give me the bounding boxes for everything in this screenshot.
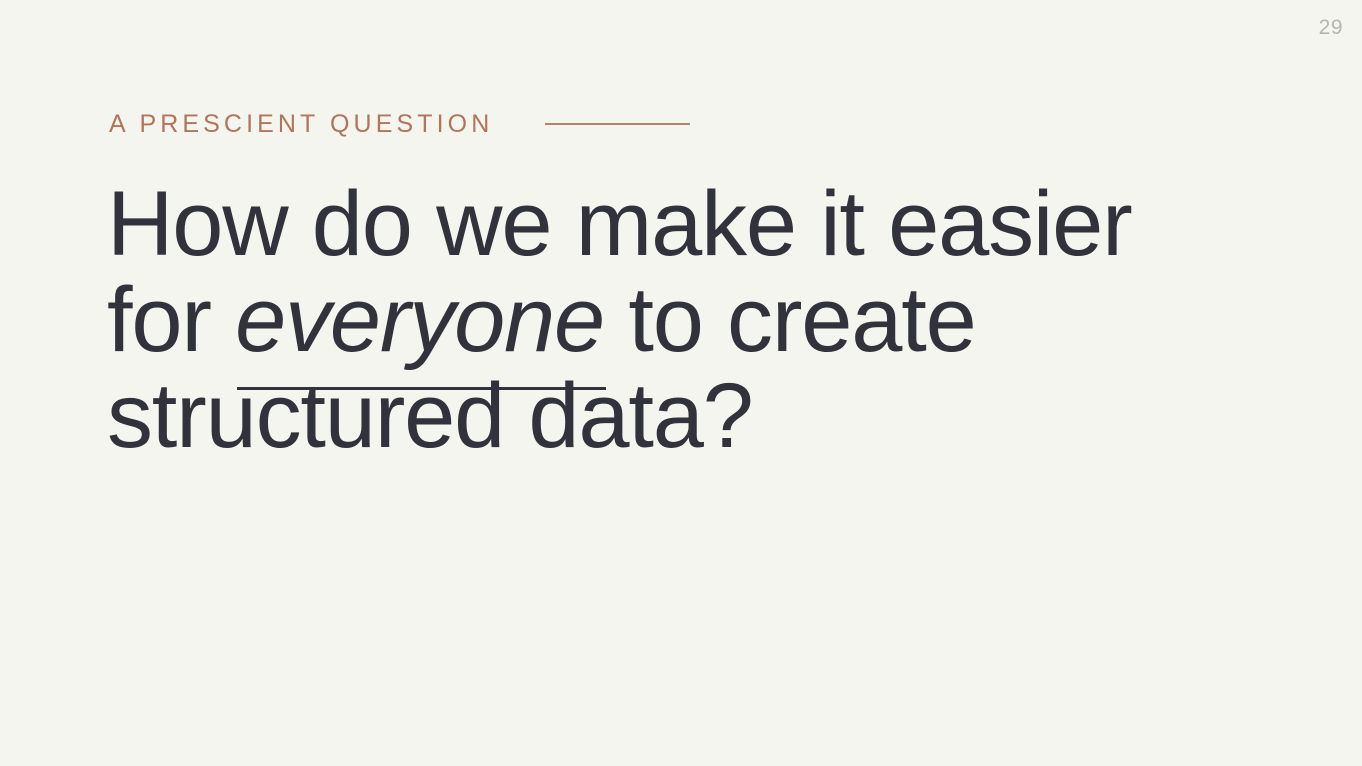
headline-emphasis-word: everyone — [235, 269, 604, 373]
headline: How do we make it easier for everyone to… — [107, 176, 1237, 464]
page-number: 29 — [1319, 17, 1343, 38]
eyebrow-divider-rule — [545, 123, 690, 125]
eyebrow: A PRESCIENT QUESTION — [109, 106, 690, 142]
eyebrow-label: A PRESCIENT QUESTION — [109, 112, 493, 137]
slide-canvas: 29 A PRESCIENT QUESTION How do we make i… — [0, 0, 1362, 766]
